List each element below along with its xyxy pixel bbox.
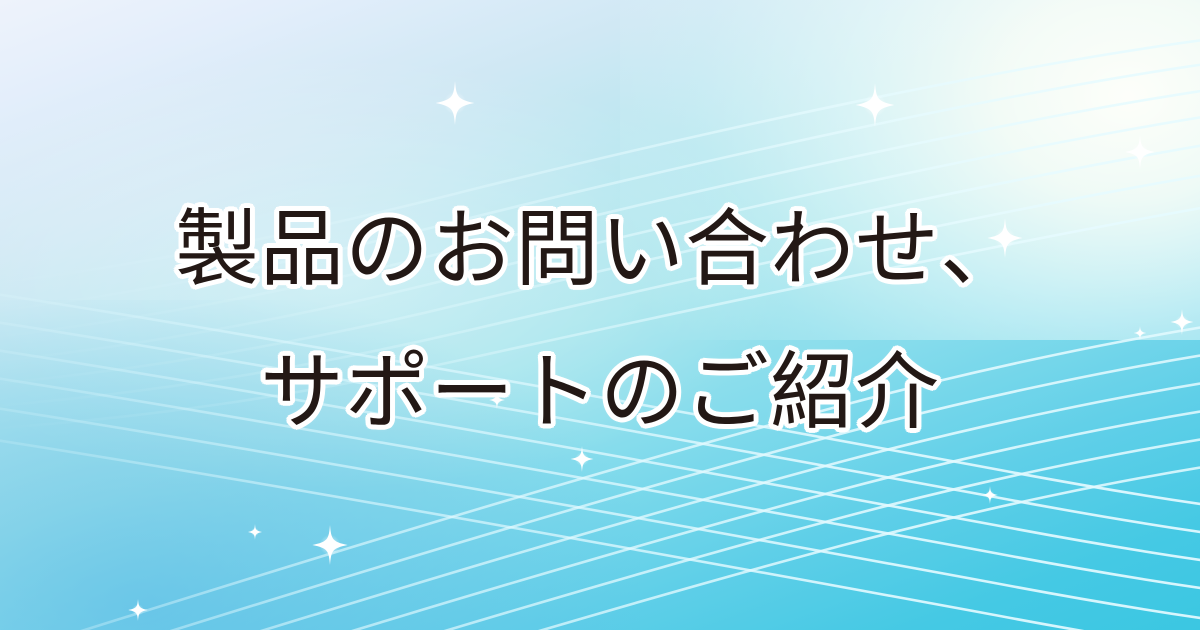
banner-canvas: 製品のお問い合わせ、 サポートのご紹介 (0, 0, 1200, 630)
headline-line-1: 製品のお問い合わせ、 (0, 178, 1200, 321)
headline-block: 製品のお問い合わせ、 サポートのご紹介 (0, 178, 1200, 464)
headline-line-2: サポートのご紹介 (0, 321, 1200, 464)
